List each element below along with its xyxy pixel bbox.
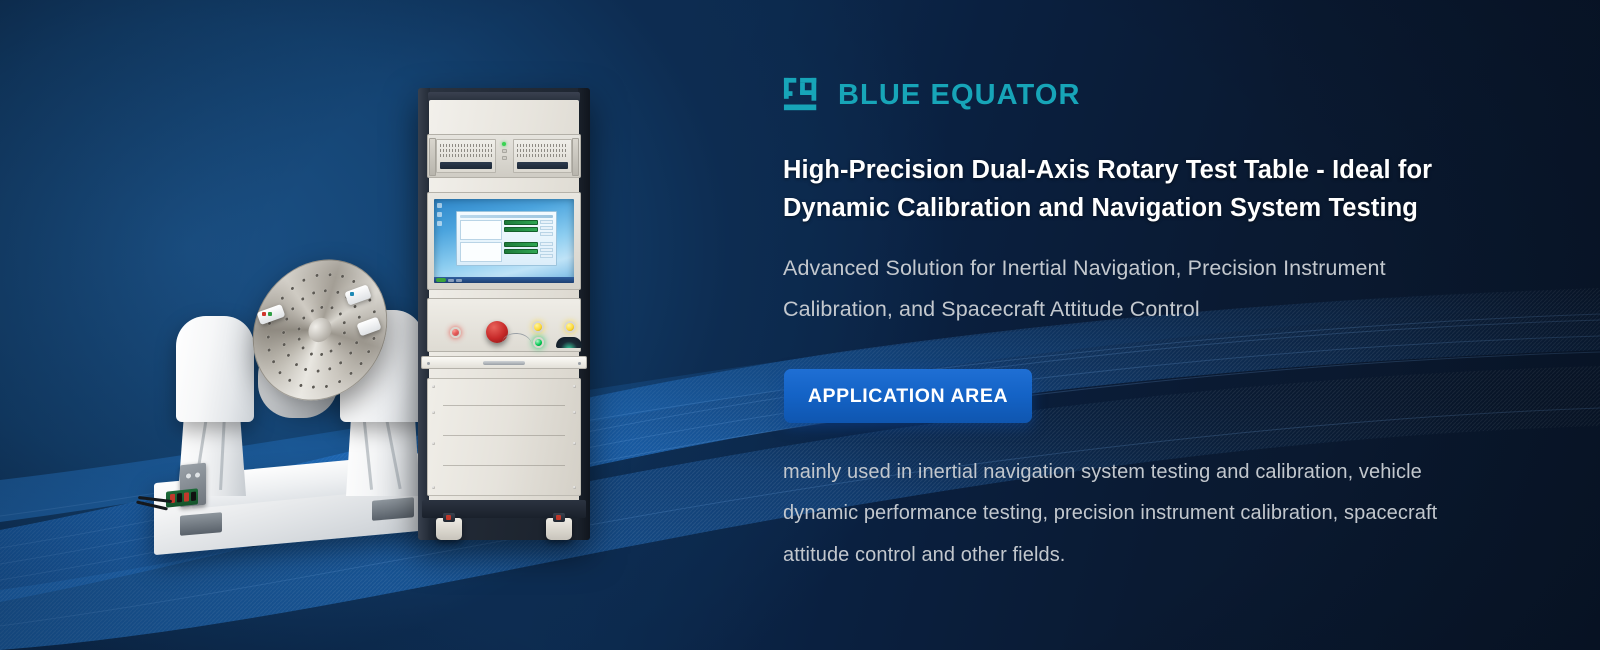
- rack-ear-right: [572, 138, 579, 176]
- platter-bolt-hole: [372, 337, 375, 341]
- start-button[interactable]: [436, 278, 446, 282]
- vent-grille: [517, 144, 569, 157]
- platter-bolt-hole: [301, 297, 304, 301]
- product-photo: [0, 0, 760, 650]
- waveform-plot: [460, 242, 501, 262]
- rack-mount-industrial-pc: [427, 134, 581, 178]
- platter-bolt-hole: [310, 309, 313, 313]
- base-slot-left: [180, 512, 222, 536]
- platter-bolt-hole: [353, 304, 356, 308]
- platter-bolt-hole: [328, 367, 331, 371]
- digital-readout: [504, 227, 538, 232]
- platter-bolt-hole: [342, 331, 345, 335]
- power-led-icon: [502, 142, 506, 146]
- connector-port: [185, 472, 192, 480]
- platter-bolt-hole: [291, 286, 294, 290]
- platter-bolt-hole: [285, 318, 288, 322]
- desktop-icon: [437, 212, 442, 217]
- platter-bolt-hole: [338, 342, 341, 346]
- platter-bolt-hole: [324, 289, 327, 293]
- dual-axis-rotary-test-table: [150, 252, 460, 582]
- desktop-icon: [437, 221, 442, 226]
- application-area-button[interactable]: APPLICATION AREA: [784, 369, 1032, 423]
- platter-bolt-hole: [312, 291, 315, 295]
- reset-button[interactable]: [502, 156, 507, 160]
- taskbar-item[interactable]: [448, 279, 454, 282]
- windows-taskbar: [434, 277, 574, 283]
- platter-bolt-hole: [330, 349, 333, 353]
- platter-bolt-hole: [291, 306, 294, 310]
- waveform-plot: [460, 220, 501, 240]
- pc-center-controls: [500, 139, 509, 173]
- keyboard-drawer[interactable]: [421, 356, 587, 369]
- connector-port: [194, 471, 201, 479]
- subheadline: Advanced Solution for Inertial Navigatio…: [783, 248, 1443, 330]
- platter-bolt-hole: [367, 350, 370, 354]
- vent-grille: [440, 144, 492, 157]
- operator-control-panel: [427, 298, 581, 352]
- platter-bolt-hole: [352, 279, 355, 283]
- red-indicator-lamp: [450, 327, 461, 338]
- rack-ear-left: [429, 138, 436, 176]
- digital-readout: [504, 249, 538, 254]
- platter-bolt-hole: [339, 361, 342, 365]
- digital-readout: [504, 220, 538, 225]
- terminal: [191, 492, 196, 502]
- fixture-led-cyan: [350, 292, 354, 296]
- platter-bolt-hole: [282, 343, 285, 347]
- platter-bolt-hole: [373, 310, 376, 314]
- fixture-led-red: [262, 312, 266, 316]
- platter-bolt-hole: [355, 340, 358, 344]
- platter-bolt-hole: [316, 369, 319, 373]
- platter-bolt-hole: [349, 372, 352, 376]
- drive-bay: [517, 162, 569, 169]
- yellow-indicator-lamp-1: [532, 321, 544, 333]
- platter-bolt-hole: [310, 352, 313, 356]
- terminal: [184, 492, 189, 502]
- bearing-housing-left: [176, 316, 254, 422]
- panel-screw: [578, 362, 581, 365]
- platter-bolt-hole: [359, 362, 362, 366]
- parameter-column: [540, 220, 553, 240]
- pc-unit-right: [513, 139, 573, 173]
- taskbar-item[interactable]: [456, 279, 462, 282]
- readout-group: [504, 220, 538, 240]
- fixture-led-green: [268, 312, 272, 316]
- control-software-window: [456, 211, 557, 266]
- drive-bay: [440, 162, 492, 169]
- platter-bolt-hole: [298, 326, 301, 330]
- drawer-handle[interactable]: [483, 361, 525, 365]
- product-banner: BLUE EQUATOR High-Precision Dual-Axis Ro…: [0, 0, 1600, 650]
- panel-wire: [502, 332, 533, 348]
- platter-bolt-hole: [349, 352, 352, 356]
- platter-bolt-hole: [320, 305, 323, 309]
- platter-bolt-hole: [266, 335, 269, 339]
- readout-group: [504, 242, 538, 262]
- platter-bolt-hole: [288, 379, 291, 383]
- platter-bolt-hole: [330, 306, 333, 310]
- desktop-icon: [437, 203, 442, 208]
- application-area-description: mainly used in inertial navigation syste…: [783, 452, 1463, 576]
- power-button[interactable]: [502, 149, 507, 153]
- platter-bolt-hole: [341, 274, 344, 278]
- brand-lockup: BLUE EQUATOR: [783, 76, 1081, 114]
- platter-bolt-hole: [279, 371, 282, 375]
- platter-bolt-hole: [325, 384, 328, 388]
- platter-bolt-hole: [312, 385, 315, 389]
- platter-bolt-hole: [336, 290, 339, 294]
- pc-unit-left: [436, 139, 496, 173]
- terminal: [177, 493, 182, 503]
- digital-readout: [504, 242, 538, 247]
- lcd-monitor: [427, 192, 581, 290]
- window-lower-section: [460, 242, 553, 262]
- window-title-bar: [460, 215, 553, 218]
- platter-bolt-hole: [315, 274, 318, 278]
- platter-bolt-hole: [343, 321, 346, 325]
- platter-bolt-hole: [302, 346, 305, 350]
- selector-knob[interactable]: [556, 337, 582, 348]
- yellow-indicator-lamp-2: [564, 321, 576, 333]
- parameter-column: [540, 242, 553, 262]
- brand-name: BLUE EQUATOR: [838, 79, 1081, 112]
- platter-bolt-hole: [358, 315, 361, 319]
- platter-bolt-hole: [302, 316, 305, 320]
- platter-bolt-hole: [297, 337, 300, 341]
- platter-bolt-hole: [304, 368, 307, 372]
- platter-bolt-hole: [267, 348, 270, 352]
- leveling-foot-left: [436, 518, 462, 540]
- platter-bolt-hole: [281, 296, 284, 300]
- platter-bolt-hole: [302, 279, 305, 283]
- content-column: BLUE EQUATOR High-Precision Dual-Axis Ro…: [783, 0, 1483, 650]
- page-title: High-Precision Dual-Axis Rotary Test Tab…: [783, 152, 1463, 227]
- panel-screw: [427, 362, 430, 365]
- base-slot-right: [372, 497, 414, 521]
- platter-bolt-hole: [294, 362, 297, 366]
- window-upper-section: [460, 220, 553, 240]
- blue-equator-monogram-icon: [783, 76, 821, 114]
- leveling-foot-right: [546, 518, 572, 540]
- platter-bolt-hole: [282, 330, 285, 334]
- platter-bolt-hole: [272, 360, 275, 364]
- lower-access-door[interactable]: [427, 378, 581, 496]
- platter-bolt-hole: [338, 312, 341, 316]
- platter-bolt-hole: [287, 354, 290, 358]
- terminal-board: [166, 488, 198, 507]
- platter-bolt-hole: [338, 379, 341, 383]
- green-indicator-lamp: [533, 337, 544, 348]
- platter-bolt-hole: [299, 384, 302, 388]
- platter-bolt-hole: [328, 273, 331, 277]
- platter-bolt-hole: [320, 353, 323, 357]
- control-cabinet: [418, 88, 590, 540]
- monitor-screen: [434, 199, 574, 283]
